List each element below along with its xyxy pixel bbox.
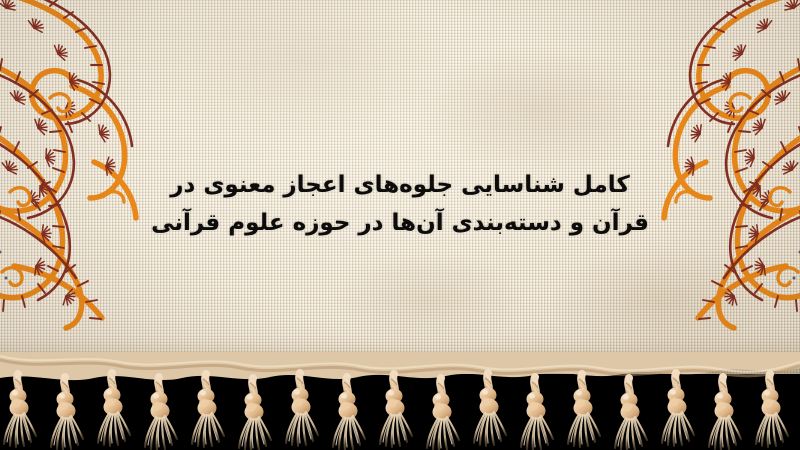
ornament-right (546, 0, 800, 366)
fabric-panel (0, 0, 800, 374)
black-background (0, 374, 800, 450)
hem-shadow (0, 336, 800, 374)
fabric-vignette (0, 0, 800, 374)
banner-image: کامل شناسایی جلوه‌های اعجاز معنوی در قرآ… (0, 0, 800, 450)
ornament-left (0, 0, 254, 366)
